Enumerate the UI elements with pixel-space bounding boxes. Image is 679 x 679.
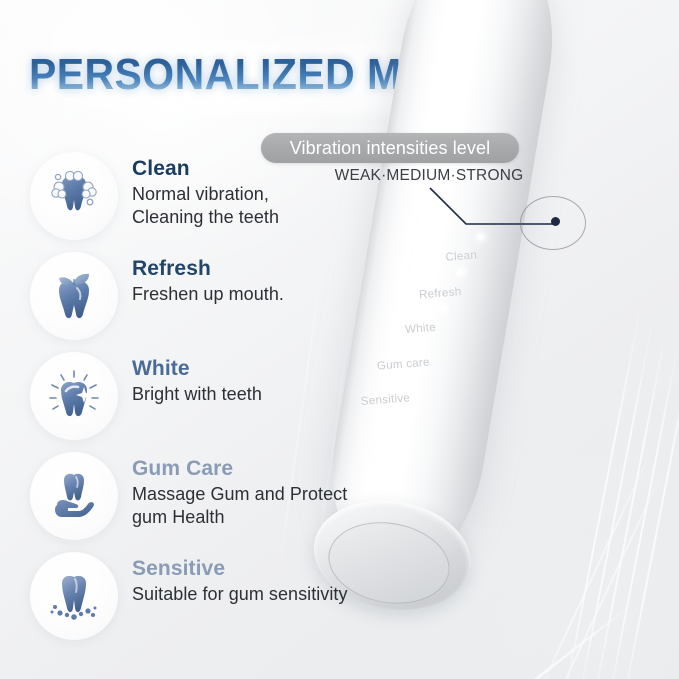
- mode-desc-gum-care: Massage Gum and Protect gum Health: [132, 483, 347, 529]
- mode-desc-sensitive: Suitable for gum sensitivity: [132, 583, 348, 606]
- tooth-dots-icon: [30, 552, 118, 640]
- tooth-foam-icon: [30, 152, 118, 240]
- tooth-mint-leaf-icon: [30, 252, 118, 340]
- mode-title-refresh: Refresh: [132, 256, 284, 282]
- mode-desc-clean: Normal vibration, Cleaning the teeth: [132, 183, 279, 229]
- mode-item-gum-care[interactable]: Gum Care Massage Gum and Protect gum Hea…: [30, 452, 430, 540]
- power-button-marker: [551, 217, 560, 226]
- infographic-canvas: PERSONALIZED MODES PERSONALIZED MODES Cl…: [0, 0, 679, 679]
- mode-title-gum-care: Gum Care: [132, 456, 347, 482]
- mode-title-white: White: [132, 356, 262, 382]
- mode-item-refresh[interactable]: Refresh Freshen up mouth.: [30, 252, 430, 340]
- mode-text-gum-care: Gum Care Massage Gum and Protect gum Hea…: [132, 452, 347, 529]
- mode-text-sensitive: Sensitive Suitable for gum sensitivity: [132, 552, 348, 606]
- mode-title-clean: Clean: [132, 156, 279, 182]
- device-label-clean: Clean: [445, 249, 477, 263]
- mode-text-refresh: Refresh Freshen up mouth.: [132, 252, 284, 306]
- mode-item-white[interactable]: White Bright with teeth: [30, 352, 430, 440]
- mode-title-sensitive: Sensitive: [132, 556, 348, 582]
- mode-desc-white: Bright with teeth: [132, 383, 262, 406]
- mode-text-clean: Clean Normal vibration, Cleaning the tee…: [132, 152, 279, 229]
- mode-item-sensitive[interactable]: Sensitive Suitable for gum sensitivity: [30, 552, 430, 640]
- mode-text-white: White Bright with teeth: [132, 352, 262, 406]
- mode-item-clean[interactable]: Clean Normal vibration, Cleaning the tee…: [30, 152, 430, 240]
- tooth-hand-icon: [30, 452, 118, 540]
- tooth-sparkle-icon: [30, 352, 118, 440]
- mode-desc-refresh: Freshen up mouth.: [132, 283, 284, 306]
